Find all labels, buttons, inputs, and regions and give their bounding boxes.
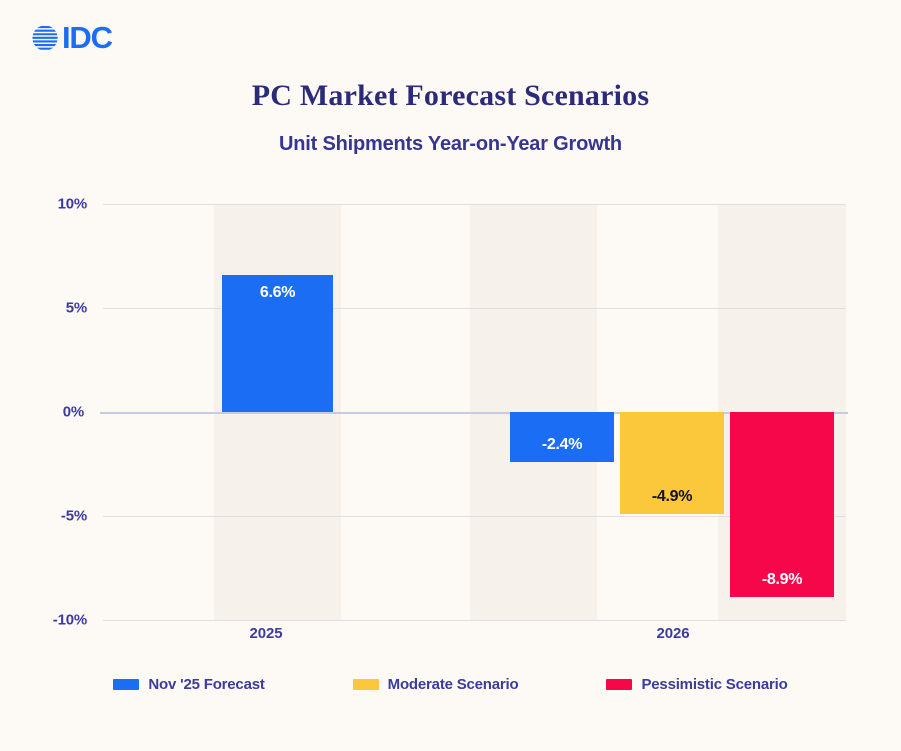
y-axis-label-minus10: -10% [53, 612, 87, 629]
legend-swatch-red [606, 679, 632, 690]
legend-label-nov25-forecast: Nov '25 Forecast [148, 676, 264, 693]
bar-value-label: -8.9% [762, 571, 802, 589]
bar-value-label: -2.4% [542, 436, 582, 454]
gridline-minus10: -10% [103, 620, 846, 621]
chart-plot-area: 10% 5% 0% -5% -10% 6.6% -2.4% -4.9% -8.9… [108, 204, 846, 621]
y-axis-label-5: 5% [66, 300, 87, 317]
idc-globe-icon [30, 23, 60, 53]
legend-swatch-yellow [353, 679, 379, 690]
bar-2026-moderate[interactable]: -4.9% [620, 412, 724, 514]
chart-subtitle: Unit Shipments Year-on-Year Growth [0, 133, 901, 156]
legend-swatch-blue [113, 679, 139, 690]
y-axis-label-0: 0% [63, 404, 84, 421]
bar-value-label: -4.9% [652, 488, 692, 506]
idc-wordmark: IDC [62, 22, 112, 53]
bar-value-label: 6.6% [260, 284, 295, 302]
legend-item-nov25-forecast[interactable]: Nov '25 Forecast [113, 676, 264, 693]
y-axis-label-minus5: -5% [61, 508, 87, 525]
chart-title: PC Market Forecast Scenarios [0, 79, 901, 113]
y-axis-label-10: 10% [58, 196, 87, 213]
legend-item-moderate[interactable]: Moderate Scenario [353, 676, 519, 693]
gridline-5: 5% [103, 308, 846, 309]
gridline-10: 10% [103, 204, 846, 205]
x-axis-label-2025: 2025 [250, 625, 283, 642]
legend-label-pessimistic: Pessimistic Scenario [641, 676, 787, 693]
chart-legend: Nov '25 Forecast Moderate Scenario Pessi… [0, 676, 901, 693]
legend-item-pessimistic[interactable]: Pessimistic Scenario [606, 676, 787, 693]
legend-label-moderate: Moderate Scenario [388, 676, 519, 693]
bar-2026-pessimistic[interactable]: -8.9% [730, 412, 834, 597]
x-axis-label-2026: 2026 [657, 625, 690, 642]
bar-2025-nov25-forecast[interactable]: 6.6% [222, 275, 333, 412]
idc-logo: IDC [30, 22, 112, 53]
bar-2026-nov25-forecast[interactable]: -2.4% [510, 412, 614, 462]
